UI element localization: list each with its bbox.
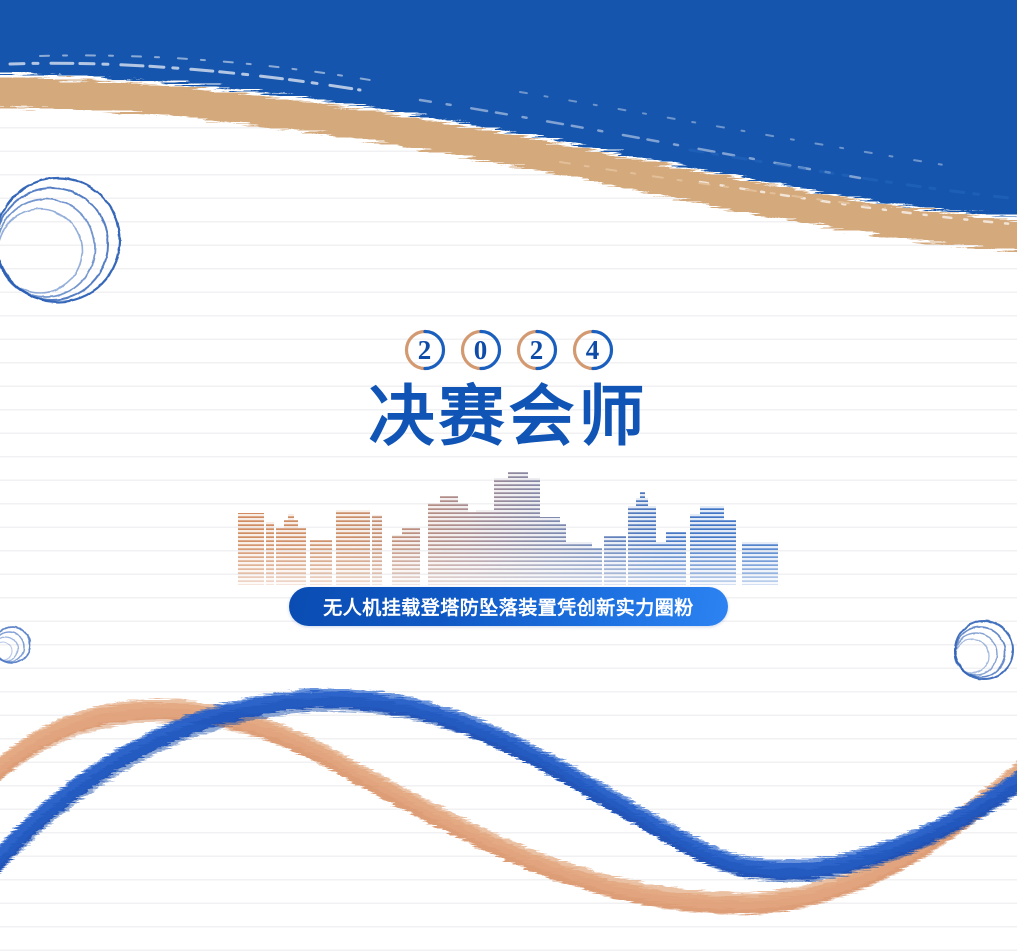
page-title: 决赛会师	[0, 382, 1017, 451]
year-digit-badge: 2	[515, 328, 559, 372]
subtitle-banner: 无人机挂载登塔防坠落装置凭创新实力圈粉	[289, 587, 728, 626]
subtitle-banner-wrap: 无人机挂载登塔防坠落装置凭创新实力圈粉	[0, 587, 1017, 626]
year-digit-value: 2	[418, 337, 432, 364]
year-digit-badge: 2	[403, 328, 447, 372]
year-digit-value: 2	[530, 337, 544, 364]
poster-canvas: 2 0 2 4	[0, 0, 1017, 951]
year-digit-value: 4	[586, 337, 600, 364]
year-digit-badge: 0	[459, 328, 503, 372]
year-digit-badge: 4	[571, 328, 615, 372]
year-digit-value: 0	[474, 337, 488, 364]
year-badges: 2 0 2 4	[0, 328, 1017, 372]
